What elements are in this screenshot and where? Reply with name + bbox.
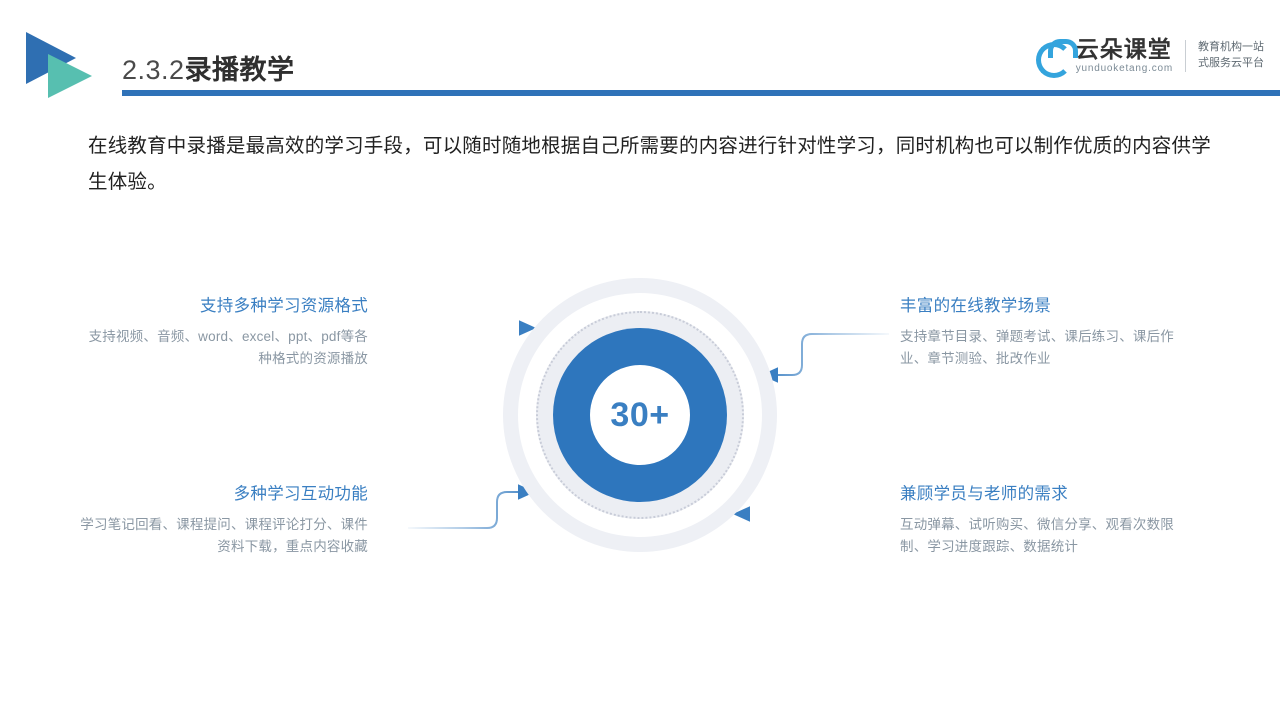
- brand-name: 云朵课堂: [1076, 38, 1173, 61]
- cloud-icon: [1034, 39, 1074, 73]
- callout-top-right: 丰富的在线教学场景 支持章节目录、弹题考试、课后练习、课后作业、章节测验、批改作…: [900, 296, 1190, 370]
- center-value: 30+: [610, 396, 669, 435]
- callout-title: 多种学习互动功能: [78, 484, 368, 505]
- callout-top-left: 支持多种学习资源格式 支持视频、音频、word、excel、ppt、pdf等各种…: [78, 296, 368, 370]
- callout-bottom-right: 兼顾学员与老师的需求 互动弹幕、试听购买、微信分享、观看次数限制、学习进度跟踪、…: [900, 484, 1190, 558]
- brand-logo: 云朵课堂 yunduoketang.com 教育机构一站 式服务云平台: [1034, 33, 1264, 79]
- callout-title: 支持多种学习资源格式: [78, 296, 368, 317]
- callout-body: 支持章节目录、弹题考试、课后练习、课后作业、章节测验、批改作业: [900, 326, 1190, 370]
- intro-paragraph: 在线教育中录播是最高效的学习手段，可以随时随地根据自己所需要的内容进行针对性学习…: [88, 128, 1218, 200]
- callout-title: 丰富的在线教学场景: [900, 296, 1190, 317]
- brand-text-block: 云朵课堂 yunduoketang.com: [1076, 38, 1173, 74]
- ring-core: 30+: [590, 365, 690, 465]
- callout-body: 互动弹幕、试听购买、微信分享、观看次数限制、学习进度跟踪、数据统计: [900, 514, 1190, 558]
- callout-body: 支持视频、音频、word、excel、ppt、pdf等各种格式的资源播放: [78, 326, 368, 370]
- brand-tagline: 教育机构一站 式服务云平台: [1198, 40, 1264, 72]
- cloud-bump-shape: [1048, 39, 1078, 58]
- title-underline-rule: [122, 90, 1280, 96]
- page-title-number: 2.3.2: [122, 55, 185, 85]
- callout-title: 兼顾学员与老师的需求: [900, 484, 1190, 505]
- callout-bottom-left: 多种学习互动功能 学习笔记回看、课程提问、课程评论打分、课件资料下载，重点内容收…: [78, 484, 368, 558]
- brand-domain: yunduoketang.com: [1076, 64, 1173, 74]
- triangle-teal-icon: [48, 54, 92, 98]
- connector-top-right: [764, 334, 889, 375]
- page-title-name: 录播教学: [185, 55, 295, 85]
- double-triangle-play-logo: [26, 32, 110, 102]
- page-title: 2.3.2录播教学: [122, 48, 295, 87]
- connector-bottom-left: [408, 492, 532, 528]
- brand-divider: [1185, 40, 1186, 72]
- callout-body: 学习笔记回看、课程提问、课程评论打分、课件资料下载，重点内容收藏: [78, 514, 368, 558]
- slide-header: 2.3.2录播教学 云朵课堂 yunduoketang.com 教育机构一站 式…: [0, 0, 1280, 110]
